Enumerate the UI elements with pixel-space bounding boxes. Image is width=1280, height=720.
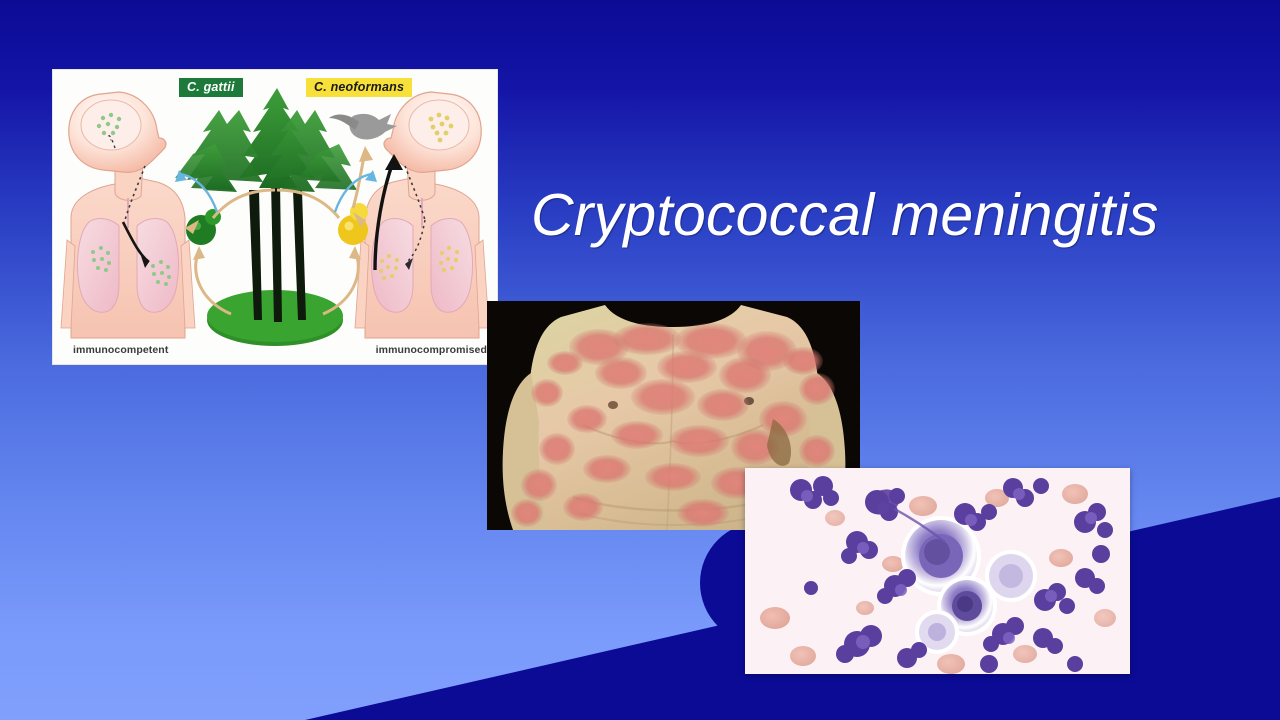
slide-title: Cryptococcal meningitis bbox=[531, 181, 1159, 249]
badge-c-neoformans: C. neoformans bbox=[306, 78, 412, 97]
label-immunocompromised: immunocompromised bbox=[376, 344, 487, 356]
diagram-illustration bbox=[53, 70, 497, 364]
cytology-micrograph[interactable] bbox=[745, 468, 1130, 674]
transmission-diagram-image[interactable]: C. gattii C. neoformans immunocompetent … bbox=[53, 70, 497, 364]
micrograph-illustration bbox=[745, 468, 1130, 674]
badge-c-gattii: C. gattii bbox=[179, 78, 243, 97]
presentation-slide: C. gattii C. neoformans immunocompetent … bbox=[0, 0, 1280, 720]
label-immunocompetent: immunocompetent bbox=[73, 344, 168, 356]
